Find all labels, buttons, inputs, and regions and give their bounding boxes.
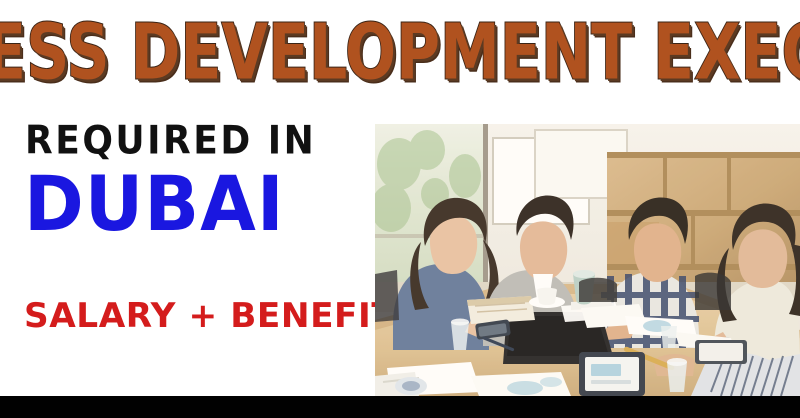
headline-container: BUSINESS DEVELOPMENT EXECUTIVE [0, 12, 800, 92]
business-meeting-photo [375, 124, 800, 396]
subhead-required-in: REQUIRED IN [25, 122, 316, 161]
left-text-column: REQUIRED IN DUBAI SALARY + BENEFITS [0, 104, 372, 396]
business-meeting-photo-graphic [375, 124, 800, 396]
offer-salary-benefits: SALARY + BENEFITS [24, 299, 420, 333]
location-dubai: DUBAI [24, 166, 285, 242]
job-advert-banner: BUSINESS DEVELOPMENT EXECUTIVE REQUIRED … [0, 0, 800, 418]
bottom-black-band [0, 396, 800, 418]
headline-text: BUSINESS DEVELOPMENT EXECUTIVE [0, 14, 800, 91]
